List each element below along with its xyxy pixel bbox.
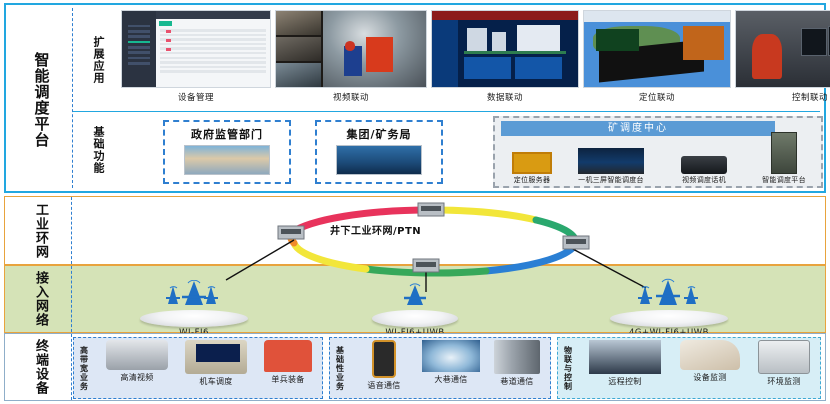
video-dispatch-phone-icon (681, 156, 727, 174)
group-label-text: 物联与控制 (564, 346, 573, 391)
ext-tile-caption: 视频联动 (275, 91, 427, 103)
tower-group-icon-2 (372, 283, 458, 306)
group-label-basic-services: 基础性业务 (332, 338, 348, 398)
terminal-dashed-divider (71, 334, 72, 400)
terminal-item-main-roadway-comm[interactable]: 大巷通信 (418, 340, 484, 385)
group-block-title: 集团/矿务局 (317, 126, 441, 142)
ext-tile-video-linkage[interactable]: 视频联动 (275, 10, 427, 103)
group-label-iot-control: 物联与控制 (560, 338, 576, 398)
tower-group-icon-3 (610, 278, 728, 306)
center-item-caption: 一机三屏智能调度台 (565, 176, 657, 184)
terminal-item-voice-comm[interactable]: 语音通信 (352, 340, 416, 391)
mine-dispatch-center-banner: 矿调度中心 (501, 121, 775, 136)
ap-platform-disc (610, 310, 728, 327)
switch-top-icon (418, 203, 444, 216)
switch-left-icon (278, 226, 304, 239)
terminal-devices-band: 终端设备 高带宽业务 高清视频 机车调度 单兵装备 基础性业务 (4, 333, 826, 401)
terminal-item-locomotive-dispatch[interactable]: 机车调度 (178, 340, 254, 387)
mine-video-screenshot-icon (275, 10, 427, 88)
smart-dispatch-platform-band: 智能调度平台 扩展应用 (4, 3, 826, 193)
terminal-item-caption: 单兵装备 (256, 374, 320, 385)
access-point-wifi6[interactable]: WI-FI6 (140, 280, 248, 338)
extended-tiles: 设备管理 (121, 10, 818, 110)
dashboard-screenshot-icon (121, 10, 271, 88)
terminal-item-equipment-monitoring[interactable]: 设备监测 (674, 340, 746, 383)
center-item-positioning-server[interactable]: 定位服务器 (499, 152, 565, 184)
locomotive-dispatch-unit-icon (185, 340, 247, 374)
terminal-item-hd-video[interactable]: 高清视频 (98, 340, 176, 383)
group-label-high-bandwidth: 高带宽业务 (76, 338, 92, 398)
terminal-item-roadway-comm[interactable]: 巷道通信 (486, 340, 548, 387)
gov-supervision-block[interactable]: 政府监管部门 (163, 120, 291, 184)
terminal-item-environment-monitoring[interactable]: 环境监测 (750, 340, 818, 387)
group-control-room-photo-icon (336, 145, 422, 175)
architecture-diagram: 智能调度平台 扩展应用 (0, 0, 830, 404)
terminal-item-caption: 设备监测 (674, 372, 746, 383)
switch-bottom-icon (413, 259, 439, 272)
three-screen-console-icon (578, 148, 644, 174)
mining-machine-icon (680, 340, 740, 370)
terminal-item-personal-equipment[interactable]: 单兵装备 (256, 340, 320, 385)
ext-tile-device-management[interactable]: 设备管理 (121, 10, 271, 103)
basic-function-row: 基础功能 政府监管部门 集团/矿务局 矿调度中心 定位服务器 (73, 112, 820, 188)
ext-tile-caption: 设备管理 (121, 91, 271, 103)
mine-dispatch-center-items: 定位服务器 一机三屏智能调度台 视频调度话机 智能调度平台 (495, 138, 821, 184)
ring-network-label-text: 工业环网 (32, 203, 48, 259)
ext-tile-positioning-linkage[interactable]: 定位联动 (583, 10, 731, 103)
gis-positioning-screenshot-icon (583, 10, 731, 88)
ring-arc-yellow (431, 210, 536, 220)
camera-icon (106, 340, 168, 370)
terminal-item-caption: 高清视频 (98, 372, 176, 383)
terminal-group-iot-control[interactable]: 物联与控制 远程控制 设备监测 环境监测 (557, 337, 821, 399)
center-item-video-dispatch-phone[interactable]: 视频调度话机 (663, 156, 745, 184)
gov-block-title: 政府监管部门 (165, 126, 289, 142)
basic-row-label: 基础功能 (77, 112, 119, 188)
server-rack-icon (494, 340, 540, 374)
center-item-three-screen-console[interactable]: 一机三屏智能调度台 (565, 148, 657, 184)
ring-network-label: 工业环网 (13, 197, 67, 264)
terminal-item-caption: 语音通信 (352, 380, 416, 391)
platform-content: 扩展应用 (72, 8, 820, 188)
access-point-4g-wifi6-uwb[interactable]: 4G+WI-FI6+UWB (610, 278, 728, 338)
ext-tile-caption: 数据联动 (431, 91, 579, 103)
ext-tile-data-linkage[interactable]: 数据联动 (431, 10, 579, 103)
center-item-caption: 智能调度平台 (747, 176, 821, 184)
ext-tile-caption: 定位联动 (583, 91, 731, 103)
center-item-caption: 视频调度话机 (663, 176, 745, 184)
ring-arc-yellow2 (294, 243, 366, 269)
terminal-item-caption: 大巷通信 (418, 374, 484, 385)
terminal-devices-label-text: 终端设备 (32, 339, 48, 395)
switch-right-icon (563, 236, 589, 249)
center-item-dispatch-cabinet[interactable]: 智能调度平台 (747, 132, 821, 184)
ext-tile-control-linkage[interactable]: 控制联动 (735, 10, 830, 103)
extended-row-label: 扩展应用 (77, 8, 119, 111)
access-network-label-text: 接入网络 (32, 271, 48, 327)
ap-platform-disc (372, 310, 458, 327)
terminal-item-caption: 环境监测 (750, 376, 818, 387)
environment-sensor-icon (758, 340, 810, 374)
basic-row-label-text: 基础功能 (91, 126, 105, 174)
group-label-text: 基础性业务 (336, 346, 345, 391)
extended-row-label-text: 扩展应用 (91, 36, 105, 84)
extended-application-row: 扩展应用 (73, 8, 820, 112)
platform-label-text: 智能调度平台 (32, 52, 51, 148)
ring-caption: 井下工业环网/PTN (330, 222, 421, 237)
terminal-devices-label: 终端设备 (13, 334, 67, 400)
terminal-item-remote-control[interactable]: 远程控制 (582, 340, 668, 387)
access-point-wifi6-uwb[interactable]: WI-FI6+UWB (372, 283, 458, 338)
terminal-group-basic-services[interactable]: 基础性业务 语音通信 大巷通信 巷道通信 (329, 337, 551, 399)
terminal-item-caption: 机车调度 (178, 376, 254, 387)
positioning-server-icon (512, 152, 552, 174)
terminal-item-caption: 远程控制 (582, 376, 668, 387)
personal-equipment-icon (264, 340, 312, 372)
tower-group-icon-1 (140, 280, 248, 306)
mine-dispatch-center-block[interactable]: 矿调度中心 定位服务器 一机三屏智能调度台 视频调度话机 (493, 116, 823, 188)
ext-tile-caption: 控制联动 (735, 91, 830, 103)
dispatch-cabinet-icon (771, 132, 797, 174)
platform-section-label: 智能调度平台 (12, 8, 70, 192)
government-building-photo-icon (184, 145, 270, 175)
tunnel-icon (422, 340, 480, 372)
ap-platform-disc (140, 310, 248, 327)
terminal-group-high-bandwidth[interactable]: 高带宽业务 高清视频 机车调度 单兵装备 (73, 337, 323, 399)
control-room-photo-icon (735, 10, 830, 88)
remote-control-room-icon (589, 340, 661, 374)
group-bureau-block[interactable]: 集团/矿务局 (315, 120, 443, 184)
access-network-label: 接入网络 (13, 266, 67, 332)
scada-screenshot-icon (431, 10, 579, 88)
terminal-item-caption: 巷道通信 (486, 376, 548, 387)
center-item-caption: 定位服务器 (499, 176, 565, 184)
rugged-phone-icon (372, 340, 396, 378)
uplink-left (226, 240, 294, 280)
group-label-text: 高带宽业务 (80, 346, 89, 391)
